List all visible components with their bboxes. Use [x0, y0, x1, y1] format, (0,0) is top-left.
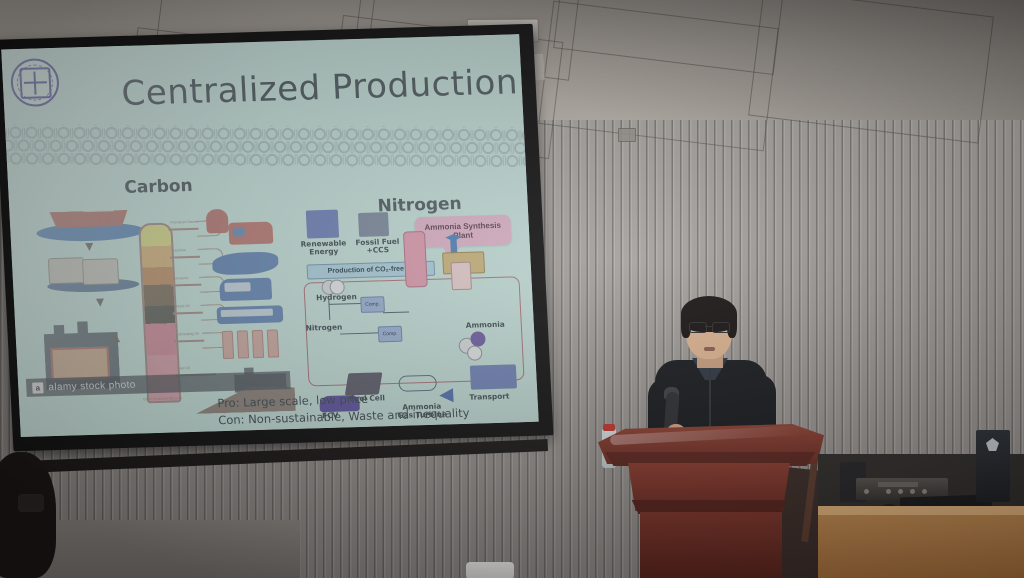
- conference-room-photo: Centralized Production Carbon Nitrogen: [0, 0, 1024, 578]
- photo-vignette: [0, 0, 1024, 578]
